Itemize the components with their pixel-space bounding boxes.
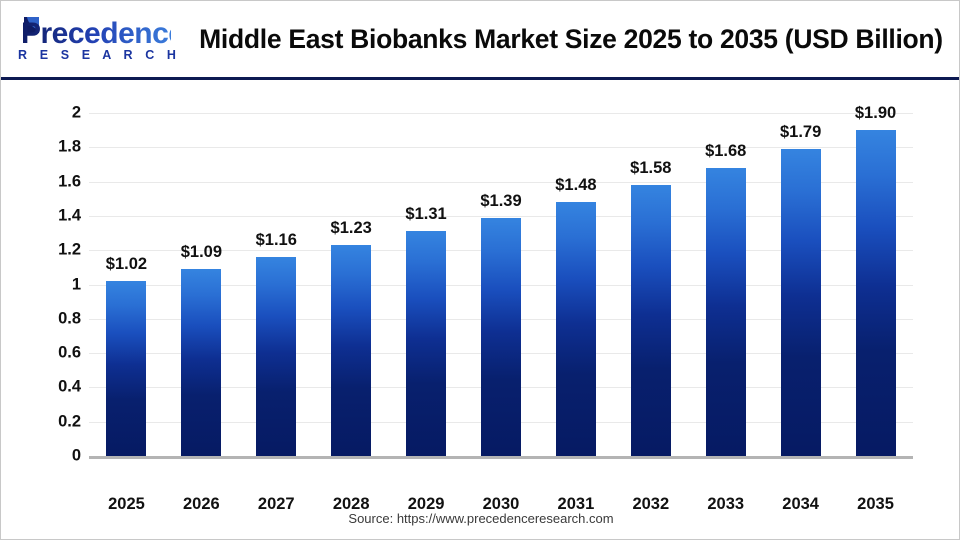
y-axis-tick-label: 1	[21, 275, 81, 294]
precedence-research-logo[interactable]: Precedence R E S E A R C H	[15, 12, 171, 68]
y-axis-tick-label: 2	[21, 104, 81, 123]
y-axis-tick-label: 0.8	[21, 309, 81, 328]
chart-screenshot: Precedence R E S E A R C H Middle East B…	[0, 0, 960, 540]
page-title: Middle East Biobanks Market Size 2025 to…	[191, 1, 951, 77]
x-axis-ticks: 2025202620272028202920302031203220332034…	[89, 113, 913, 533]
y-axis-tick-label: 1.4	[21, 206, 81, 225]
source-note: Source: https://www.precedenceresearch.c…	[1, 511, 960, 526]
y-axis-tick-label: 0.2	[21, 412, 81, 431]
y-axis-tick-label: 0.4	[21, 378, 81, 397]
chart-header: Precedence R E S E A R C H Middle East B…	[1, 1, 959, 80]
y-axis-tick-label: 0.6	[21, 344, 81, 363]
y-axis-tick-label: 1.8	[21, 138, 81, 157]
logo-subtext: R E S E A R C H	[18, 48, 170, 62]
y-axis-tick-label: 1.2	[21, 241, 81, 260]
y-axis-tick-label: 1.6	[21, 172, 81, 191]
logo-wordmark-icon: Precedence	[15, 12, 171, 50]
y-axis-ticks: 21.81.61.41.210.80.60.40.20	[15, 113, 81, 456]
y-axis-tick-label: 0	[21, 447, 81, 466]
chart-plot-area: 21.81.61.41.210.80.60.40.20 $1.02$1.09$1…	[1, 83, 960, 540]
svg-text:Precedence: Precedence	[21, 17, 171, 50]
